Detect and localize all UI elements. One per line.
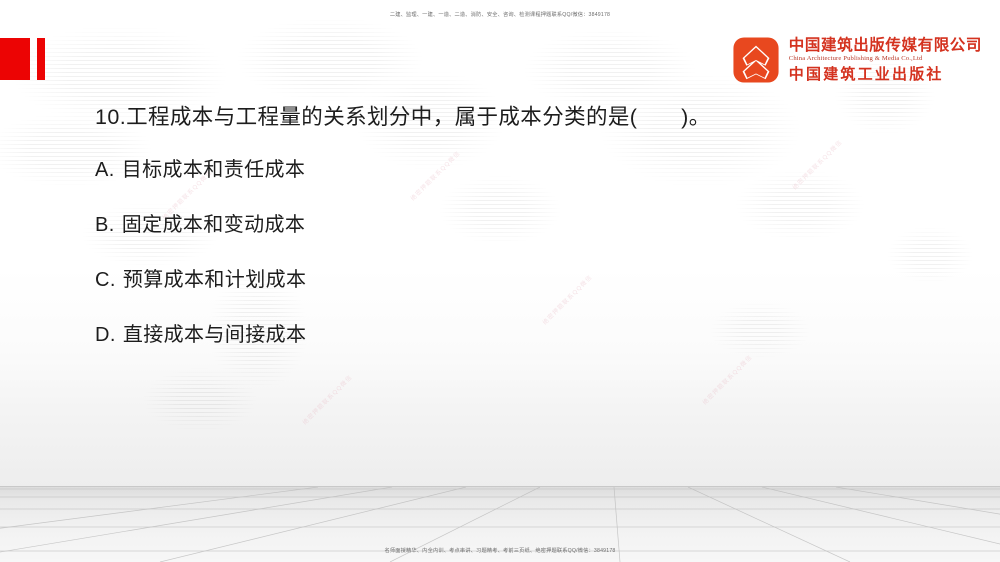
option-text-d: 直接成本与间接成本 xyxy=(123,323,307,348)
publisher-imprint-name: 中国建筑工业出版社 xyxy=(789,67,982,82)
option-key-b: B. xyxy=(95,213,115,238)
option-key-a: A. xyxy=(95,158,115,183)
question-block: 10.工程成本与工程量的关系划分中，属于成本分类的是( )。 A. 目标成本和责… xyxy=(95,104,915,378)
footer-promo-text: 名师面授精华、内全内训、考点串讲、习题精考、考前三页纸、绝密押题联系QQ/微信：… xyxy=(0,547,1000,554)
publisher-logo: 中国建筑出版传媒有限公司 China Architecture Publishi… xyxy=(732,36,982,84)
watermark-text: 绝密押题联系QQ微信 xyxy=(300,372,354,426)
publisher-company-name: 中国建筑出版传媒有限公司 xyxy=(789,38,982,54)
option-key-d: D. xyxy=(95,323,116,348)
question-stem: 10.工程成本与工程量的关系划分中，属于成本分类的是( )。 xyxy=(95,104,915,132)
option-row-d[interactable]: D. 直接成本与间接成本 xyxy=(95,323,915,348)
option-text-c: 预算成本和计划成本 xyxy=(123,268,307,293)
header-promo-text: 二建、监理、一建、一造、二造、消防、安全、咨询、检测课程押题联系QQ/微信：38… xyxy=(0,11,1000,18)
option-row-c[interactable]: C. 预算成本和计划成本 xyxy=(95,268,915,293)
option-text-a: 目标成本和责任成本 xyxy=(122,158,306,183)
floor-horizon-line xyxy=(0,486,1000,488)
option-text-b: 固定成本和变动成本 xyxy=(122,213,306,238)
publisher-company-name-en: China Architecture Publishing & Media Co… xyxy=(789,56,982,63)
option-row-a[interactable]: A. 目标成本和责任成本 xyxy=(95,158,915,183)
option-row-b[interactable]: B. 固定成本和变动成本 xyxy=(95,213,915,238)
slide-canvas: 绝密押题联系QQ微信 绝密押题联系QQ微信 绝密押题联系QQ微信 绝密押题联系Q… xyxy=(0,0,1000,562)
open-book-logo-icon xyxy=(732,36,780,84)
red-accent-block xyxy=(0,38,30,80)
option-key-c: C. xyxy=(95,268,116,293)
red-accent-bar xyxy=(37,38,45,80)
options-list: A. 目标成本和责任成本 B. 固定成本和变动成本 C. 预算成本和计划成本 D… xyxy=(95,158,915,348)
